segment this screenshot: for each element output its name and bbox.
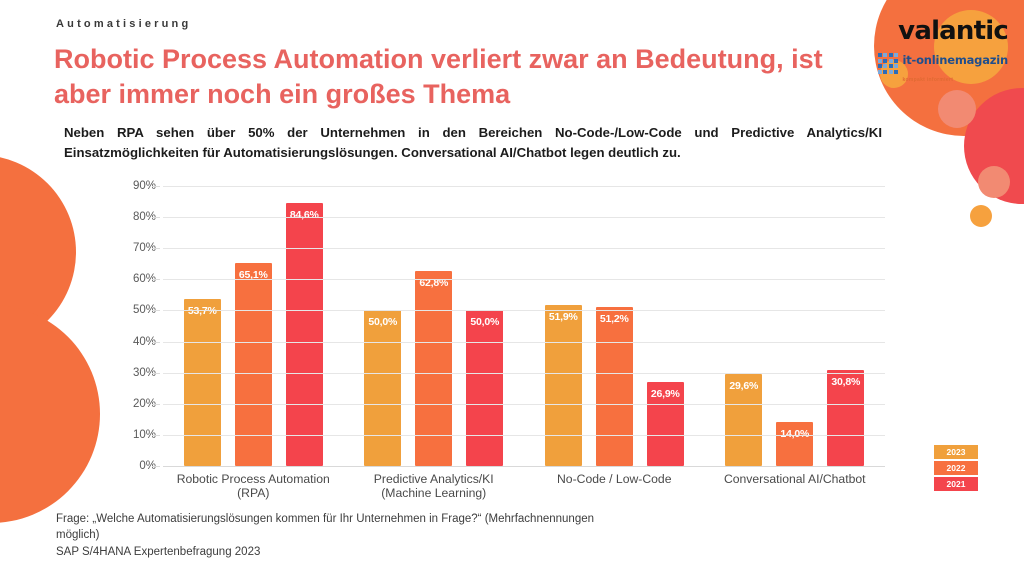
gridline — [163, 217, 885, 218]
plot-area: 53,7%65,1%84,6%50,0%62,8%50,0%51,9%51,2%… — [163, 186, 885, 466]
bar-value-label: 50,0% — [364, 316, 401, 328]
bar-2022[interactable]: 14,0% — [776, 422, 813, 466]
bar-group: 29,6%14,0%30,8% — [705, 186, 886, 466]
y-axis-tick-mark — [152, 466, 160, 467]
bar-value-label: 30,8% — [827, 376, 864, 388]
gridline — [163, 466, 885, 467]
bar-value-label: 51,9% — [545, 311, 582, 323]
bar-value-label: 84,6% — [286, 209, 323, 221]
y-axis-tick-mark — [152, 217, 160, 218]
bar-2023[interactable]: 53,7% — [184, 299, 221, 466]
bar-2022[interactable]: 51,2% — [596, 307, 633, 466]
kicker-label: Automatisierung — [56, 18, 191, 30]
bar-chart: 0%10%20%30%40%50%60%70%80%90% 53,7%65,1%… — [0, 186, 1024, 516]
gridline — [163, 435, 885, 436]
legend-item-2022[interactable]: 2022 — [934, 461, 978, 475]
gridline — [163, 248, 885, 249]
bar-groups: 53,7%65,1%84,6%50,0%62,8%50,0%51,9%51,2%… — [163, 186, 885, 466]
bar-group: 53,7%65,1%84,6% — [163, 186, 344, 466]
y-axis-tick-mark — [152, 342, 160, 343]
bar-2023[interactable]: 51,9% — [545, 305, 582, 466]
bar-value-label: 50,0% — [466, 316, 503, 328]
x-axis-category-label: Predictive Analytics/KI (Machine Learnin… — [344, 472, 525, 501]
legend-item-2021[interactable]: 2021 — [934, 477, 978, 491]
x-axis-category-label: Conversational AI/Chatbot — [705, 472, 886, 501]
gridline — [163, 404, 885, 405]
y-axis-tick-mark — [152, 279, 160, 280]
footnote-question: Frage: „Welche Automatisierungslösungen … — [56, 511, 616, 544]
y-axis-tick-mark — [152, 186, 160, 187]
slide-root: valantic it-onlinemagazin kompakt inform… — [0, 0, 1024, 576]
y-axis-tick-mark — [152, 373, 160, 374]
bar-2021[interactable]: 84,6% — [286, 203, 323, 466]
y-axis: 0%10%20%30%40%50%60%70%80%90% — [126, 186, 156, 466]
bar-value-label: 26,9% — [647, 388, 684, 400]
y-axis-tick-mark — [152, 248, 160, 249]
bar-group: 50,0%62,8%50,0% — [344, 186, 525, 466]
decorative-circle-salmon-1 — [938, 90, 976, 128]
pixel-grid-icon — [878, 53, 899, 74]
gridline — [163, 373, 885, 374]
chart-legend: 202320222021 — [934, 445, 978, 491]
it-onlinemagazin-tagline: kompakt informiert — [902, 77, 953, 83]
y-axis-tick-mark — [152, 404, 160, 405]
bar-2021[interactable]: 26,9% — [647, 382, 684, 466]
x-axis-category-label: Robotic Process Automation (RPA) — [163, 472, 344, 501]
gridline — [163, 310, 885, 311]
bar-2023[interactable]: 50,0% — [364, 310, 401, 466]
bar-group: 51,9%51,2%26,9% — [524, 186, 705, 466]
bar-value-label: 29,6% — [725, 380, 762, 392]
bar-value-label: 51,2% — [596, 313, 633, 325]
y-axis-tick-mark — [152, 310, 160, 311]
it-onlinemagazin-wordmark: it-onlinemagazin — [902, 53, 1008, 67]
gridline — [163, 279, 885, 280]
bar-2022[interactable]: 62,8% — [415, 271, 452, 466]
y-axis-tick-mark — [152, 435, 160, 436]
gridline — [163, 342, 885, 343]
gridline — [163, 186, 885, 187]
bar-2021[interactable]: 50,0% — [466, 310, 503, 466]
page-title: Robotic Process Automation verliert zwar… — [54, 42, 834, 111]
bar-2021[interactable]: 30,8% — [827, 370, 864, 466]
valantic-logo: valantic — [898, 16, 1008, 46]
bar-2023[interactable]: 29,6% — [725, 374, 762, 466]
legend-item-2023[interactable]: 2023 — [934, 445, 978, 459]
x-axis-category-label: No-Code / Low-Code — [524, 472, 705, 501]
it-onlinemagazin-logo: it-onlinemagazin kompakt informiert — [878, 52, 1008, 86]
subtitle-text: Neben RPA sehen über 50% der Unternehmen… — [64, 123, 882, 162]
x-axis-categories: Robotic Process Automation (RPA)Predicti… — [163, 472, 885, 501]
footnote-source: SAP S/4HANA Expertenbefragung 2023 — [56, 546, 260, 558]
